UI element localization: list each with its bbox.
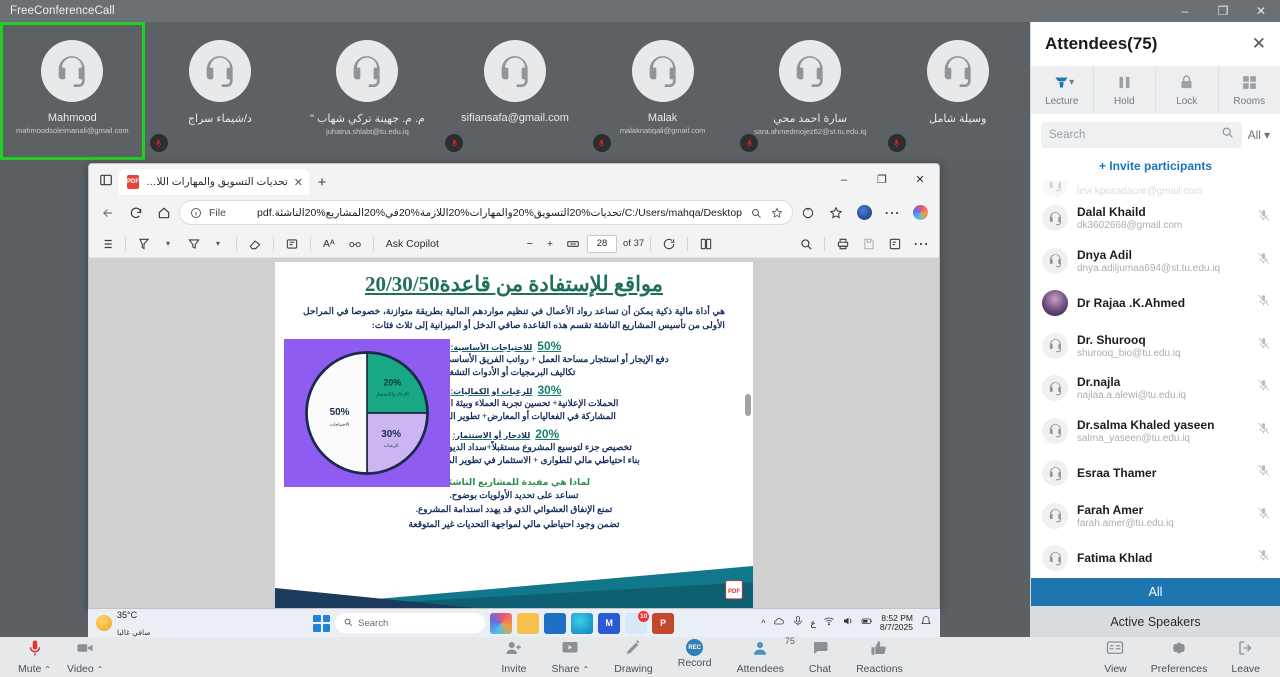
participant-avatar-icon xyxy=(189,40,251,102)
leave-icon xyxy=(1237,639,1255,662)
wifi-icon[interactable] xyxy=(823,614,835,632)
app-titlebar: FreeConferenceCall – ❐ ✕ xyxy=(0,0,1280,22)
call-toolbar-left: Mute⌃ Video⌃ xyxy=(0,639,300,675)
taskbar-clock[interactable]: 8:52 PM 8/7/2025 xyxy=(880,614,913,632)
call-toolbar-center: Invite Share⌃ Drawing REC Record xyxy=(300,639,1104,675)
window-controls: – ❐ ✕ xyxy=(1166,0,1280,22)
reactions-button[interactable]: Reactions xyxy=(856,639,903,675)
pie-chart: 50% الاحتياجات 30% الرغبات 20% الادخار و… xyxy=(284,339,450,487)
participant-avatar-icon xyxy=(1042,503,1068,529)
pdf-draw-icon[interactable] xyxy=(182,233,206,255)
participant-avatar-icon xyxy=(632,40,694,102)
invite-row: + Invite participants xyxy=(1031,152,1280,181)
list-item[interactable]: Esraa Thamer xyxy=(1031,452,1280,495)
video-tile[interactable]: د/شيماء سراج xyxy=(148,22,293,160)
attendee-name: Dalal Khaild xyxy=(1077,205,1248,219)
windows-taskbar: 35°C صافي غالبا Search M 10 P ^ xyxy=(88,609,940,637)
video-label: Video xyxy=(67,663,94,675)
attendee-email: levi.kposadacre@gmail.com xyxy=(1077,186,1270,197)
participant-avatar-icon xyxy=(1042,181,1068,197)
weather-widget[interactable]: 35°C صافي غالبا xyxy=(96,606,226,640)
attendee-name: Dr.najla xyxy=(1077,375,1248,389)
lecture-label: Lecture xyxy=(1045,96,1078,107)
hold-label: Hold xyxy=(1114,96,1135,107)
chevron-down-icon[interactable]: ▾ xyxy=(206,233,230,255)
taskbar-store-icon[interactable] xyxy=(544,613,566,634)
video-tile[interactable]: " م. م. جهينة تركي شهابjuhaina.shlabt@tu… xyxy=(295,22,440,160)
attendees-toolbar: ▾ Lecture Hold Lock Rooms xyxy=(1031,66,1280,114)
filter-active-speakers-button[interactable]: Active Speakers xyxy=(1031,606,1280,637)
mic-muted-icon[interactable] xyxy=(1257,421,1270,441)
fit-page-icon[interactable] xyxy=(561,233,585,255)
svg-text:الاحتياجات: الاحتياجات xyxy=(330,422,350,427)
attendee-name: Dr Rajaa .K.Ahmed xyxy=(1077,296,1248,310)
mic-muted-icon[interactable] xyxy=(1257,293,1270,313)
rooms-icon xyxy=(1241,74,1258,94)
list-item[interactable]: Dr Rajaa .K.Ahmed xyxy=(1031,282,1280,325)
video-tile[interactable]: Malakmalaknatiqali@gmail.com xyxy=(590,22,735,160)
video-tile[interactable]: سارة احمد محيsara.ahmedmojez62@st.tu.edu… xyxy=(738,22,883,160)
video-tile[interactable]: وسيلة شامل xyxy=(885,22,1030,160)
mic-muted-icon[interactable] xyxy=(1257,336,1270,356)
taskbar-powerpoint-icon[interactable]: P xyxy=(652,613,674,634)
thumbs-up-icon xyxy=(870,639,888,662)
participant-muted-icon xyxy=(740,134,758,152)
participant-avatar-icon xyxy=(1042,333,1068,359)
drawing-label: Drawing xyxy=(614,663,653,675)
sun-icon xyxy=(96,615,112,631)
pdf-question-line: تضمن وجود احتياطي مالي لمواجهة التحديات … xyxy=(275,517,753,532)
leave-label: Leave xyxy=(1231,663,1260,675)
list-item[interactable]: Dr. Shurooqshurooq_bio@tu.edu.iq xyxy=(1031,325,1280,368)
svg-text:30%: 30% xyxy=(381,429,401,440)
chat-icon xyxy=(811,639,829,662)
pdf-body: 50% الاحتياجات 30% الرغبات 20% الادخار و… xyxy=(275,339,753,533)
attendees-label: Attendees xyxy=(737,663,784,675)
share-button[interactable]: Share⌃ xyxy=(552,639,590,675)
notifications-icon[interactable] xyxy=(920,614,932,632)
close-icon[interactable]: ✕ xyxy=(1252,34,1266,54)
participant-name: وسيلة شامل xyxy=(929,112,986,125)
zoom-out-button[interactable]: − xyxy=(521,238,539,250)
chat-button[interactable]: Chat xyxy=(809,639,831,675)
taskbar-edge-icon[interactable] xyxy=(571,613,593,634)
gear-icon xyxy=(1170,639,1188,662)
attendee-name: Esraa Thamer xyxy=(1077,466,1248,480)
list-item[interactable]: Farah Amerfarah.amer@tu.edu.iq xyxy=(1031,495,1280,538)
browser-window-controls: – ❐ ✕ xyxy=(825,164,939,195)
volume-icon[interactable] xyxy=(842,614,854,632)
collections-icon[interactable] xyxy=(823,200,849,226)
mic-muted-icon[interactable] xyxy=(1257,378,1270,398)
attendee-name: Dr.salma Khaled yaseen xyxy=(1077,418,1248,432)
drawing-button[interactable]: Drawing xyxy=(614,639,653,675)
participant-avatar-icon xyxy=(1042,205,1068,231)
language-indicator[interactable]: ع xyxy=(811,618,816,629)
mic-muted-icon xyxy=(26,639,44,662)
taskbar-mail-icon[interactable]: 10 xyxy=(625,613,647,634)
pdf-more-icon[interactable]: ⋯ xyxy=(909,233,933,255)
participant-avatar-icon xyxy=(41,40,103,102)
attendee-name: Farah Amer xyxy=(1077,503,1248,517)
battery-icon[interactable] xyxy=(861,614,873,632)
fcc-app-window: FreeConferenceCall – ❐ ✕ Mahmoodmahmoods… xyxy=(0,0,1280,677)
pdf-layout-icon[interactable] xyxy=(694,233,718,255)
pdf-section-pct: 20% xyxy=(535,427,559,441)
tray-expand-icon[interactable]: ^ xyxy=(761,618,765,628)
list-item[interactable]: Dr.salma Khaled yaseensalma_yaseen@tu.ed… xyxy=(1031,410,1280,453)
pdf-section-pct: 30% xyxy=(537,383,561,397)
pdf-toc-icon[interactable] xyxy=(95,233,119,255)
attendee-email: dk3602668@gmail.com xyxy=(1077,220,1248,231)
close-button[interactable]: ✕ xyxy=(1242,0,1280,22)
participant-name: Mahmood xyxy=(48,112,97,124)
mic-muted-icon[interactable] xyxy=(1257,251,1270,271)
pdf-section-label: للرغبات او الكماليات: xyxy=(451,387,533,396)
tab-title: تحديات التسويق والمهارات اللازمة ف xyxy=(145,176,288,188)
list-item[interactable]: levi.kposadacre@gmail.com xyxy=(1031,181,1280,197)
clock-date: 8/7/2025 xyxy=(880,623,913,632)
pdf-viewport[interactable]: مواقع للإستفادة من قاعدة20/30/50 هي أداة… xyxy=(89,258,939,608)
tab-close-icon[interactable]: ✕ xyxy=(294,176,303,189)
pdf-logo-badge: PDF xyxy=(725,580,743,600)
pdf-page-title: مواقع للإستفادة من قاعدة20/30/50 xyxy=(275,272,753,297)
attendees-title: Attendees(75) xyxy=(1045,34,1252,54)
pdf-decorative-triangle xyxy=(275,548,753,608)
participant-muted-icon xyxy=(445,134,463,152)
invite-label: Invite xyxy=(501,663,526,675)
weather-temperature: 35°C xyxy=(117,610,137,620)
chevron-down-icon[interactable]: ▾ xyxy=(1069,77,1074,88)
participant-muted-icon xyxy=(593,134,611,152)
browser-navbar: File C:/Users/mahqa/Desktop/تحديات%20الت… xyxy=(89,195,939,230)
svg-text:20%: 20% xyxy=(383,377,401,387)
attendees-search-row: All ▾ xyxy=(1031,114,1280,152)
attendee-name: Dr. Shurooq xyxy=(1077,333,1248,347)
mute-button[interactable]: Mute⌃ xyxy=(18,639,51,675)
view-label: View xyxy=(1104,663,1127,675)
pdf-search-icon[interactable] xyxy=(794,233,818,255)
pdf-question-line: تساعد على تحديد الأولويات بوضوح. xyxy=(275,488,753,503)
address-bar[interactable]: File C:/Users/mahqa/Desktop/تحديات%20الت… xyxy=(179,200,793,225)
chevron-down-icon: ▾ xyxy=(1264,128,1270,142)
pdf-section-label: للاحتياجات الأساسية: xyxy=(451,343,533,352)
maximize-button[interactable]: ❐ xyxy=(1204,0,1242,22)
invite-icon xyxy=(505,639,523,662)
participant-avatar-icon xyxy=(1042,248,1068,274)
svg-text:PDF: PDF xyxy=(728,589,740,595)
back-icon[interactable] xyxy=(95,200,121,226)
pdf-toolbar: ▾ ▾ Aᴬ Ask Copilot − + xyxy=(89,230,939,258)
mic-muted-icon[interactable] xyxy=(1257,208,1270,228)
search-icon[interactable] xyxy=(1221,126,1234,144)
filter-label: All xyxy=(1248,128,1261,142)
weather-description: صافي غالبا xyxy=(117,628,151,637)
chat-label: Chat xyxy=(809,663,831,675)
pdf-rotate-icon[interactable] xyxy=(657,233,681,255)
search-box[interactable] xyxy=(1041,122,1242,148)
participant-email: sara.ahmedmojez62@st.tu.edu.iq xyxy=(754,127,866,136)
pdf-intro-paragraph: هي أداة مالية ذكية يمكن أن تساعد رواد ال… xyxy=(303,304,725,333)
invite-participants-link[interactable]: + Invite participants xyxy=(1099,159,1212,173)
participant-avatar-icon xyxy=(927,40,989,102)
attendees-list[interactable]: levi.kposadacre@gmail.comDalal Khailddk3… xyxy=(1031,181,1280,578)
edge-browser-window: PDF تحديات التسويق والمهارات اللازمة ف ✕… xyxy=(88,163,940,609)
chevron-up-icon[interactable]: ⌃ xyxy=(97,665,104,674)
video-tile[interactable]: Mahmoodmahmoodsoleimanali@gmail.com xyxy=(0,22,145,160)
participant-avatar-icon xyxy=(1042,460,1068,486)
refresh-icon[interactable] xyxy=(123,200,149,226)
pencil-icon xyxy=(624,639,642,662)
participant-email: mahmoodsoleimanali@gmail.com xyxy=(16,126,129,135)
video-button[interactable]: Video⌃ xyxy=(67,639,103,675)
list-item[interactable]: Dr.najlanajlaa.a.alewi@tu.edu.iq xyxy=(1031,367,1280,410)
info-icon xyxy=(188,205,203,220)
preferences-label: Preferences xyxy=(1151,663,1208,675)
participant-name: د/شيماء سراج xyxy=(188,112,252,125)
participant-name: سارة احمد محي xyxy=(773,112,847,125)
attendee-email: shurooq_bio@tu.edu.iq xyxy=(1077,348,1248,359)
attendees-icon xyxy=(751,639,769,662)
participant-muted-icon xyxy=(150,134,168,152)
browser-minimize-button[interactable]: – xyxy=(825,164,863,195)
attendees-panel: Attendees(75) ✕ ▾ Lecture Hold xyxy=(1030,22,1280,637)
app-title: FreeConferenceCall xyxy=(10,5,115,17)
leave-button[interactable]: Leave xyxy=(1231,639,1260,675)
participant-muted-icon xyxy=(888,134,906,152)
pdf-glasses-icon[interactable] xyxy=(343,233,367,255)
omnibox-scheme-label: File xyxy=(209,207,226,219)
participant-avatar-icon xyxy=(336,40,398,102)
page-total-label: of 37 xyxy=(623,238,644,249)
attendees-button[interactable]: 75 Attendees xyxy=(737,639,784,675)
svg-text:الادخار والاستثمار: الادخار والاستثمار xyxy=(375,391,409,396)
pdf-page: مواقع للإستفادة من قاعدة20/30/50 هي أداة… xyxy=(275,262,753,608)
share-icon xyxy=(561,639,579,662)
pdf-scrollbar[interactable] xyxy=(743,266,751,608)
browser-maximize-button[interactable]: ❐ xyxy=(863,164,901,195)
pdf-erase-icon[interactable] xyxy=(243,233,267,255)
invite-button[interactable]: Invite xyxy=(501,639,526,675)
pdf-save-icon[interactable] xyxy=(857,233,881,255)
pdf-highlight-icon[interactable] xyxy=(132,233,156,255)
onedrive-icon[interactable] xyxy=(773,614,785,632)
share-label: Share xyxy=(552,663,580,675)
preferences-button[interactable]: Preferences xyxy=(1151,639,1208,675)
pdf-section-label: للادخار أو الاستثمار: xyxy=(453,431,530,440)
avatar xyxy=(1042,290,1068,316)
participant-email: juhaina.shlabt@tu.edu.iq xyxy=(326,127,409,136)
profile-avatar[interactable] xyxy=(851,200,877,226)
list-item[interactable]: Dnya Adildnya.adiljumaa694@st.tu.edu.iq xyxy=(1031,240,1280,283)
taskbar-search-box[interactable]: Search xyxy=(335,613,485,633)
participant-avatar-icon xyxy=(1042,545,1068,571)
taskbar-search-placeholder: Search xyxy=(358,618,388,629)
participant-avatar-icon xyxy=(1042,418,1068,444)
lock-icon xyxy=(1178,74,1195,94)
video-tile-strip: Mahmoodmahmoodsoleimanali@gmail.comد/شيم… xyxy=(0,22,1030,160)
lecture-icon xyxy=(1053,74,1070,94)
mic-muted-icon[interactable] xyxy=(1257,506,1270,526)
record-label: Record xyxy=(678,657,712,669)
pdf-favicon: PDF xyxy=(127,175,139,189)
pdf-section-pct: 50% xyxy=(537,339,561,353)
taskbar-mail-badge: 10 xyxy=(638,611,649,622)
pdf-scrollbar-thumb[interactable] xyxy=(745,394,751,416)
view-button[interactable]: View xyxy=(1104,639,1127,675)
chevron-up-icon[interactable]: ⌃ xyxy=(583,665,590,674)
mic-muted-icon[interactable] xyxy=(1257,463,1270,483)
reactions-label: Reactions xyxy=(856,663,903,675)
start-button-icon[interactable] xyxy=(313,615,330,632)
hold-icon xyxy=(1116,74,1133,94)
attendee-email: salma_yaseen@tu.edu.iq xyxy=(1077,433,1248,444)
participant-avatar-icon xyxy=(484,40,546,102)
taskbar-center: Search M 10 P xyxy=(226,613,761,634)
attendee-email: dnya.adiljumaa694@st.tu.edu.iq xyxy=(1077,263,1248,274)
new-tab-button[interactable]: + xyxy=(309,169,335,195)
pie-chart-svg: 50% الاحتياجات 30% الرغبات 20% الادخار و… xyxy=(301,347,433,479)
ask-copilot-button[interactable]: Ask Copilot xyxy=(380,238,445,250)
call-toolbar-right: View Preferences Leave xyxy=(1104,639,1280,675)
page-number-input[interactable]: 28 xyxy=(587,235,617,253)
video-icon xyxy=(76,639,94,662)
browser-more-icon[interactable]: ⋯ xyxy=(879,200,905,226)
attendee-email: najlaa.a.alewi@tu.edu.iq xyxy=(1077,390,1248,401)
video-tile[interactable]: sifiansafa@gmail.com xyxy=(443,22,588,160)
list-item[interactable]: Fatima Khlad xyxy=(1031,537,1280,578)
home-icon[interactable] xyxy=(151,200,177,226)
lecture-button[interactable]: ▾ Lecture xyxy=(1031,66,1094,114)
attendees-header: Attendees(75) ✕ xyxy=(1031,22,1280,66)
filter-all-button[interactable]: All xyxy=(1031,578,1280,606)
pdf-question-line: تمنع الإنفاق العشوائي الذي قد يهدد استدا… xyxy=(275,502,753,517)
pdf-text-note-icon[interactable] xyxy=(280,233,304,255)
chevron-down-icon[interactable]: ▾ xyxy=(156,233,180,255)
svg-text:الرغبات: الرغبات xyxy=(384,443,399,448)
view-icon xyxy=(1106,639,1124,662)
record-button[interactable]: REC Record xyxy=(678,639,712,675)
search-icon xyxy=(343,617,353,630)
chevron-up-icon[interactable]: ⌃ xyxy=(44,665,51,674)
browser-tabstrip: PDF تحديات التسويق والمهارات اللازمة ف ✕… xyxy=(89,164,939,195)
copilot-icon[interactable] xyxy=(907,200,933,226)
taskbar-copilot-icon[interactable] xyxy=(490,613,512,634)
pdf-print-icon[interactable] xyxy=(831,233,855,255)
zoom-in-button[interactable]: + xyxy=(541,238,559,250)
attendee-name: Fatima Khlad xyxy=(1077,551,1248,565)
browser-close-button[interactable]: ✕ xyxy=(901,164,939,195)
mute-label: Mute xyxy=(18,663,41,675)
participant-name: sifiansafa@gmail.com xyxy=(461,112,569,124)
browser-essentials-icon[interactable] xyxy=(795,200,821,226)
mic-muted-icon[interactable] xyxy=(1257,548,1270,568)
svg-text:50%: 50% xyxy=(330,407,350,418)
omnibox-url: C:/Users/mahqa/Desktop/تحديات%20التسويق%… xyxy=(232,207,742,219)
taskbar-file-explorer-icon[interactable] xyxy=(517,613,539,634)
call-toolbar: Mute⌃ Video⌃ Invite Share⌃ xyxy=(0,637,1280,677)
participant-name: " م. م. جهينة تركي شهاب xyxy=(310,112,425,125)
search-input[interactable] xyxy=(1049,129,1221,141)
lock-label: Lock xyxy=(1176,96,1197,107)
browser-tab[interactable]: PDF تحديات التسويق والمهارات اللازمة ف ✕ xyxy=(119,169,309,195)
participant-email: malaknatiqali@gmail.com xyxy=(620,126,706,135)
microphone-icon[interactable] xyxy=(792,614,804,632)
lock-button[interactable]: Lock xyxy=(1156,66,1219,114)
participant-name: Malak xyxy=(648,112,677,124)
tab-actions-icon[interactable] xyxy=(93,164,119,195)
record-icon: REC xyxy=(686,639,703,656)
rooms-button[interactable]: Rooms xyxy=(1219,66,1280,114)
zoom-reset-icon[interactable] xyxy=(748,205,763,220)
pdf-read-aloud-icon[interactable]: Aᴬ xyxy=(317,238,341,250)
favorite-star-icon[interactable] xyxy=(769,205,784,220)
participant-avatar-icon xyxy=(779,40,841,102)
taskbar-app-icon[interactable]: M xyxy=(598,613,620,634)
attendees-filter-dropdown[interactable]: All ▾ xyxy=(1248,128,1270,142)
pdf-notes-icon[interactable] xyxy=(883,233,907,255)
attendee-name: Dnya Adil xyxy=(1077,248,1248,262)
attendees-count-badge: 75 xyxy=(785,636,795,646)
pdf-question-lines: تساعد على تحديد الأولويات بوضوح.تمنع الإ… xyxy=(275,488,753,533)
attendee-email: farah.amer@tu.edu.iq xyxy=(1077,518,1248,529)
minimize-button[interactable]: – xyxy=(1166,0,1204,22)
list-item[interactable]: Dalal Khailddk3602668@gmail.com xyxy=(1031,197,1280,240)
participant-avatar-icon xyxy=(1042,375,1068,401)
taskbar-tray: ^ ع 8:52 PM 8/7/2025 xyxy=(761,614,932,632)
rooms-label: Rooms xyxy=(1233,96,1265,107)
hold-button[interactable]: Hold xyxy=(1094,66,1157,114)
